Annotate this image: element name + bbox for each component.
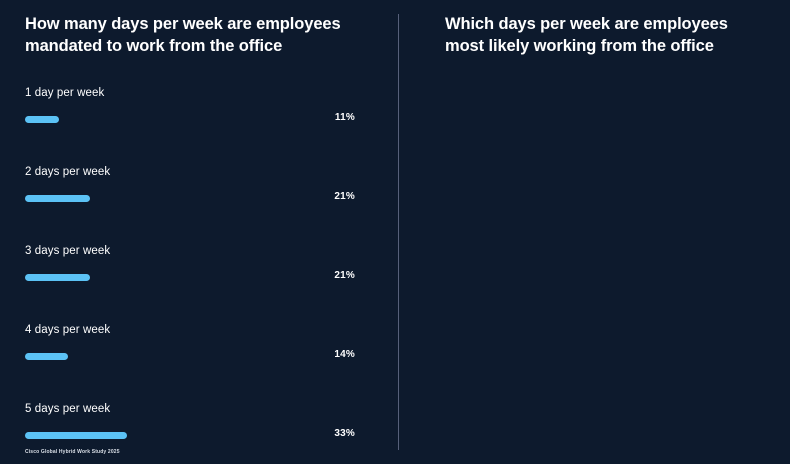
bar-fill <box>25 116 59 123</box>
bar-value: 21% <box>334 270 355 281</box>
bar-value: 14% <box>334 349 355 360</box>
bar-fill <box>25 195 90 202</box>
mandated-days-panel: How many days per week are employees man… <box>0 0 398 464</box>
bar-label: 3 days per week <box>25 246 378 258</box>
bar-value: 33% <box>334 428 355 439</box>
bar-track: 21% <box>25 191 378 213</box>
bar-fill <box>25 274 90 281</box>
bar-track: 14% <box>25 349 378 371</box>
infographic-root: How many days per week are employees man… <box>0 0 790 464</box>
bar-label: 2 days per week <box>25 167 378 179</box>
bar-value: 21% <box>334 191 355 202</box>
bar-fill <box>25 432 127 439</box>
most-likely-days-panel: Which days per week are employees most l… <box>398 0 790 464</box>
source-footnote: Cisco Global Hybrid Work Study 2025 <box>25 449 120 455</box>
bar-track: 21% <box>25 270 378 292</box>
bar-label: 4 days per week <box>25 325 378 337</box>
bar-label: 5 days per week <box>25 404 378 416</box>
bar-track: 33% <box>25 428 378 450</box>
bar-label: 1 day per week <box>25 88 378 100</box>
bar-value: 11% <box>335 112 355 123</box>
bar-row: 2 days per week 21% <box>25 167 378 246</box>
bar-row: 1 day per week 11% <box>25 88 378 167</box>
mandated-days-title: How many days per week are employees man… <box>25 14 398 58</box>
bar-fill <box>25 353 68 360</box>
bar-row: 5 days per week 33% <box>25 404 378 464</box>
bar-row: 4 days per week 14% <box>25 325 378 404</box>
bar-row: 3 days per week 21% <box>25 246 378 325</box>
bar-track: 11% <box>25 112 378 134</box>
mandated-days-bar-chart: 1 day per week 11% 2 days per week 21% 3… <box>25 88 378 464</box>
most-likely-days-title: Which days per week are employees most l… <box>445 14 770 58</box>
